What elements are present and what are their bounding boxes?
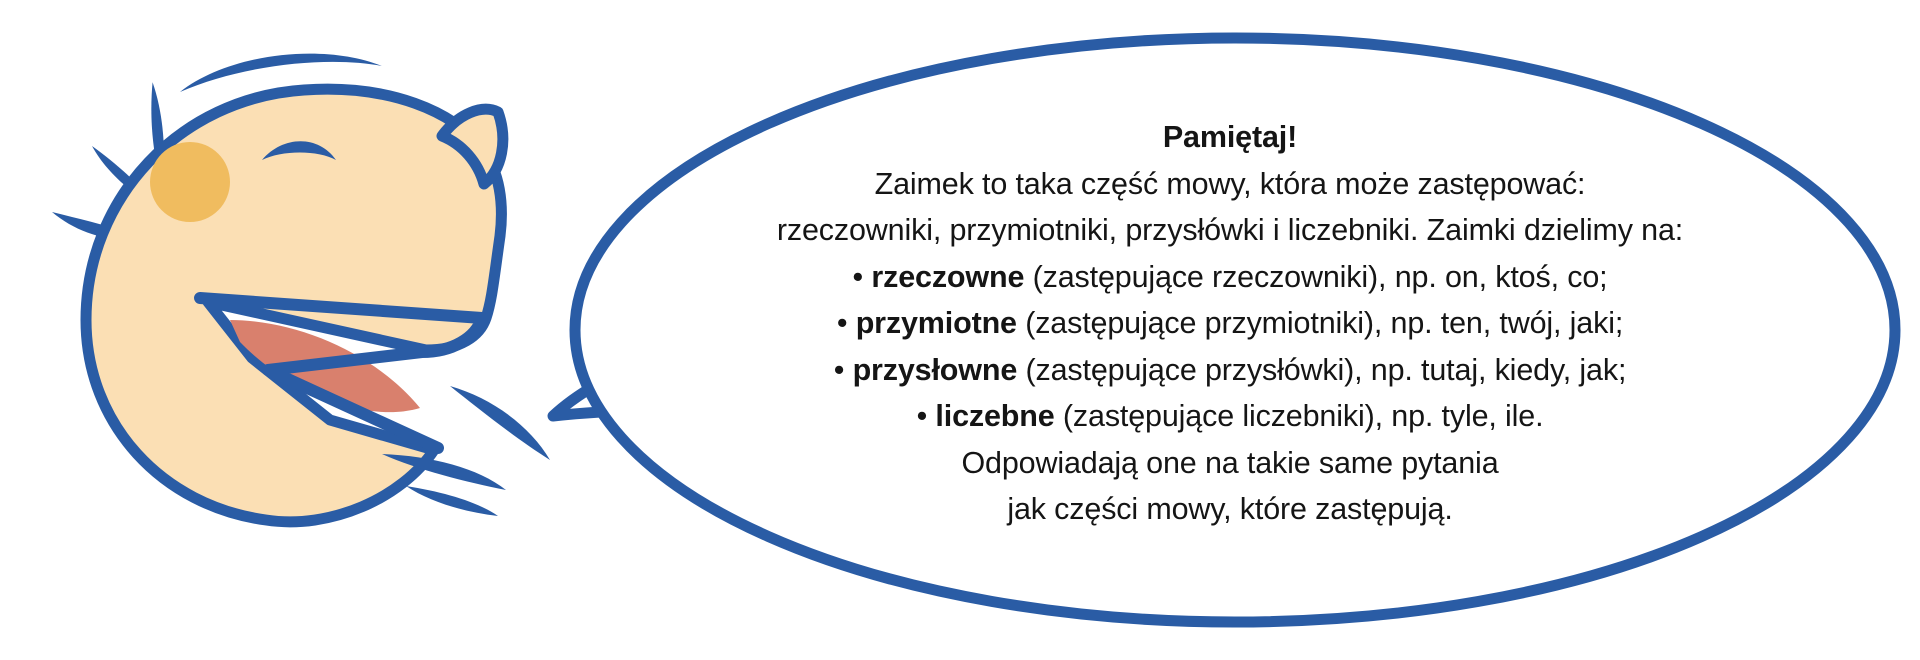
bullet-rest: (zastępujące rzeczowniki), np. on, ktoś,… xyxy=(1024,260,1607,294)
cheek-blush xyxy=(150,142,230,222)
bullet-liczebne: • liczebne (zastępujące liczebniki), np.… xyxy=(665,393,1795,440)
laughing-cat-mascot xyxy=(30,20,590,620)
bullet-przymiotne: • przymiotne (zastępujące przymiotniki),… xyxy=(665,300,1795,347)
bullet-rest: (zastępujące przysłówki), np. tutaj, kie… xyxy=(1017,353,1626,387)
bullet-przyslowne: • przysłowne (zastępujące przysłówki), n… xyxy=(665,347,1795,394)
bullet-term: przysłowne xyxy=(853,353,1018,387)
bullet-term: rzeczowne xyxy=(871,260,1024,294)
bullet-rzeczowne: • rzeczowne (zastępujące rzeczowniki), n… xyxy=(665,254,1795,301)
bubble-line-outro-2: jak części mowy, które zastępują. xyxy=(665,486,1795,533)
bullet-rest: (zastępujące liczebniki), np. tyle, ile. xyxy=(1055,399,1544,433)
bullet-marker: • xyxy=(837,306,848,340)
bullet-term: liczebne xyxy=(935,399,1054,433)
illustration-canvas: Pamiętaj! Zaimek to taka część mowy, któ… xyxy=(0,0,1920,660)
bullet-term: przymiotne xyxy=(856,306,1017,340)
bubble-text-block: Pamiętaj! Zaimek to taka część mowy, któ… xyxy=(665,114,1795,533)
bullet-marker: • xyxy=(853,260,864,294)
bullet-marker: • xyxy=(834,353,845,387)
bubble-line-intro-1: Zaimek to taka część mowy, która może za… xyxy=(665,161,1795,208)
bubble-line-outro-1: Odpowiadają one na takie same pytania xyxy=(665,440,1795,487)
bullet-rest: (zastępujące przymiotniki), np. ten, twó… xyxy=(1017,306,1623,340)
bubble-line-intro-2: rzeczowniki, przymiotniki, przysłówki i … xyxy=(665,207,1795,254)
bullet-marker: • xyxy=(917,399,928,433)
speech-bubble: Pamiętaj! Zaimek to taka część mowy, któ… xyxy=(545,18,1905,642)
bubble-heading: Pamiętaj! xyxy=(665,114,1795,161)
